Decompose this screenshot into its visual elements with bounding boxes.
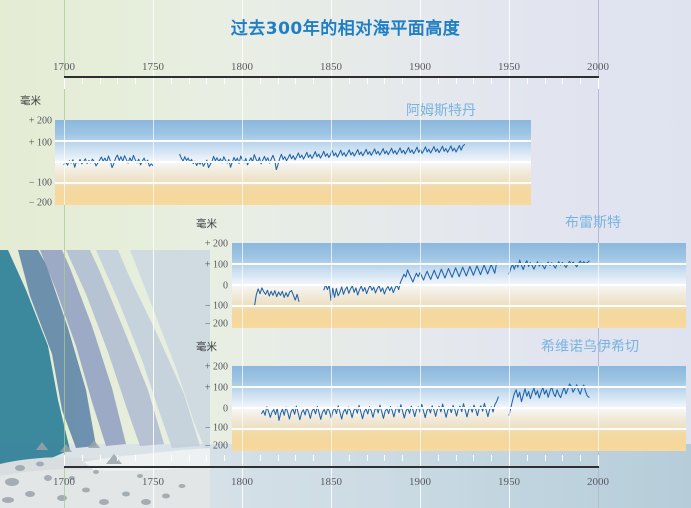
- axis-top-label-2000: 2000: [587, 61, 609, 73]
- y-label-swinoujscie-100: + 100: [184, 383, 228, 394]
- axis-top-label-1700: 1700: [53, 61, 75, 73]
- y-label-amsterdam-n100: − 100: [8, 178, 52, 189]
- plot-area-brest: [232, 243, 686, 328]
- y-label-amsterdam-n200: − 200: [8, 198, 52, 209]
- axis-top-label-1900: 1900: [409, 61, 431, 73]
- axis-top-label-1850: 1850: [320, 61, 342, 73]
- axis-bottom-label-1700: 1700: [53, 476, 75, 488]
- series-paths-amsterdam: [64, 144, 465, 169]
- series-label-brest: 布雷斯特: [565, 212, 621, 232]
- y-label-amsterdam-200: + 200: [8, 116, 52, 127]
- axis-bottom-label-1900: 1900: [409, 476, 431, 488]
- axis-top-label-1800: 1800: [231, 61, 253, 73]
- y-label-swinoujscie-200: + 200: [184, 362, 228, 373]
- axis-top-label-1950: 1950: [498, 61, 520, 73]
- y-unit-label-brest: 毫米: [196, 216, 217, 231]
- axis-bottom-label-1850: 1850: [320, 476, 342, 488]
- y-label-swinoujscie-0: 0: [184, 404, 228, 415]
- axis-top-label-1750: 1750: [142, 61, 164, 73]
- series-segment: [254, 288, 299, 306]
- series-segment: [180, 144, 465, 169]
- axis-bottom: 1700 1750 1800 1850 1900 1950 2000: [64, 466, 599, 480]
- y-unit-label-amsterdam: 毫米: [20, 93, 41, 108]
- y-label-brest-100: + 100: [184, 260, 228, 271]
- y-label-brest-200: + 200: [184, 239, 228, 250]
- axis-bottom-label-1950: 1950: [498, 476, 520, 488]
- axis-bottom-label-1800: 1800: [231, 476, 253, 488]
- axis-bottom-line: [64, 466, 599, 468]
- axis-top: 1700 1750 1800 1850 1900 1950 2000: [64, 76, 599, 90]
- y-label-brest-0: 0: [184, 281, 228, 292]
- y-label-brest-n200: − 200: [184, 319, 228, 330]
- plot-area-amsterdam: [55, 120, 531, 205]
- series-label-amsterdam: 阿姆斯特丹: [406, 100, 476, 120]
- series-segment: [324, 263, 497, 300]
- series-paths-swinoujscie: [262, 384, 590, 420]
- plot-area-swinoujscie: [232, 366, 686, 451]
- series-label-swinoujscie: 希维诺乌伊希切: [541, 336, 639, 356]
- page-title: 过去300年的相对海平面高度: [0, 14, 691, 39]
- chart-stage: 过去300年的相对海平面高度 1700 1750 1800 1850 1900 …: [0, 0, 691, 508]
- y-label-brest-n100: − 100: [184, 301, 228, 312]
- y-unit-label-swinoujscie: 毫米: [196, 339, 217, 354]
- axis-bottom-label-2000: 2000: [587, 476, 609, 488]
- y-label-amsterdam-100: + 100: [8, 138, 52, 149]
- y-label-swinoujscie-n200: − 200: [184, 441, 228, 452]
- axis-bottom-label-1750: 1750: [142, 476, 164, 488]
- y-label-swinoujscie-n100: − 100: [184, 423, 228, 434]
- series-segment: [509, 384, 589, 415]
